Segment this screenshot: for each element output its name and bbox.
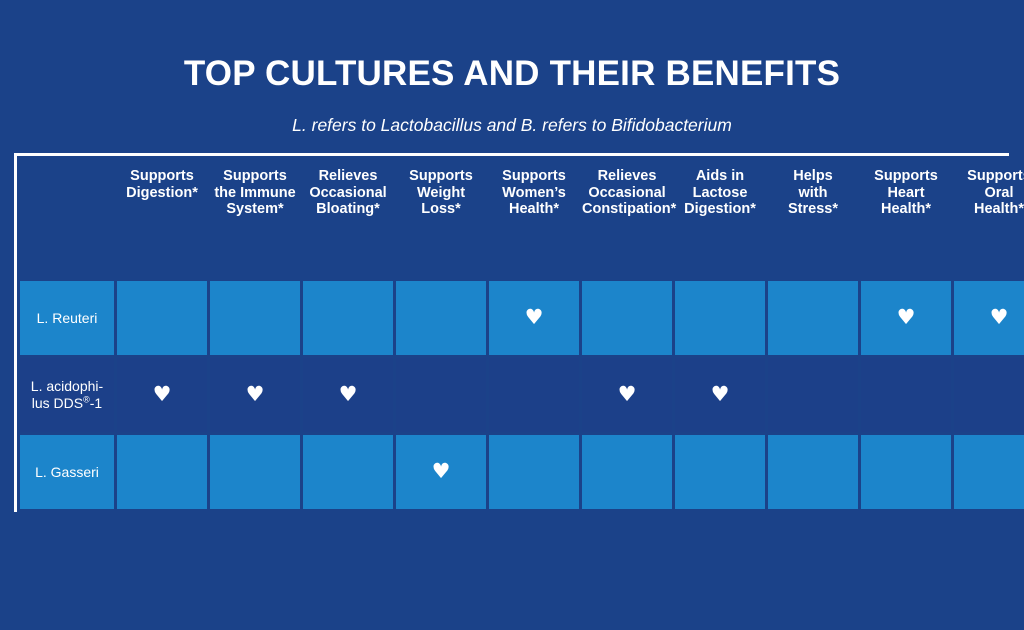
column-header-line: Aids in	[675, 168, 765, 185]
column-header-line: the Immune	[210, 185, 300, 202]
column-header-line: Supports	[861, 168, 951, 185]
column-header-line: Digestion*	[675, 201, 765, 218]
row-label-line: L. Reuteri	[20, 310, 114, 327]
column-header-line: Supports	[489, 168, 579, 185]
column-header-line: Supports	[954, 168, 1024, 185]
heart-icon: ♥	[990, 307, 1009, 328]
column-header-line: Occasional	[582, 185, 672, 202]
benefit-cell: ♥	[117, 281, 207, 355]
column-header-4: SupportsWeightLoss*	[396, 159, 486, 278]
benefit-cell: ♥	[396, 435, 486, 509]
benefit-cell: ♥	[582, 435, 672, 509]
page-subtitle: L. refers to Lactobacillus and B. refers…	[0, 112, 1024, 138]
column-header-5: SupportsWomen’sHealth*	[489, 159, 579, 278]
heart-icon: ♥	[153, 384, 172, 405]
column-header-line: with	[768, 185, 858, 202]
benefit-cell: ♥	[768, 435, 858, 509]
column-header-3: RelievesOccasionalBloating*	[303, 159, 393, 278]
benefit-cell: ♥	[954, 358, 1024, 432]
header-row: SupportsDigestion*Supportsthe ImmuneSyst…	[20, 159, 1024, 278]
column-header-line: Health*	[954, 201, 1024, 218]
column-header-line: Bloating*	[303, 201, 393, 218]
column-header-1: SupportsDigestion*	[117, 159, 207, 278]
registered-trademark-mark: ®	[83, 394, 90, 404]
benefit-cell: ♥	[489, 435, 579, 509]
column-header-line: Health*	[861, 201, 951, 218]
benefit-cell: ♥	[210, 358, 300, 432]
poster-root: TOP CULTURES AND THEIR BENEFITS L. refer…	[0, 0, 1024, 630]
column-header-line: Stress*	[768, 201, 858, 218]
benefit-cell: ♥	[489, 358, 579, 432]
table-row: L. acidophi-lus DDS®-1♥♥♥♥♥♥♥♥♥♥	[20, 358, 1024, 432]
page-title: TOP CULTURES AND THEIR BENEFITS	[0, 52, 1024, 96]
benefit-cell: ♥	[768, 281, 858, 355]
heart-icon: ♥	[897, 307, 916, 328]
row-label-3: L. Gasseri	[20, 435, 114, 509]
column-header-6: RelievesOccasionalConstipation*	[582, 159, 672, 278]
benefit-cell: ♥	[675, 358, 765, 432]
table-body: L. Reuteri♥♥♥♥♥♥♥♥♥♥L. acidophi-lus DDS®…	[20, 281, 1024, 509]
benefit-cell: ♥	[675, 435, 765, 509]
column-header-line: Constipation*	[582, 201, 672, 218]
benefit-cell: ♥	[489, 281, 579, 355]
benefit-cell: ♥	[675, 281, 765, 355]
column-header-line: Occasional	[303, 185, 393, 202]
table-row: L. Gasseri♥♥♥♥♥♥♥♥♥♥	[20, 435, 1024, 509]
benefit-cell: ♥	[303, 358, 393, 432]
column-header-9: SupportsHeartHealth*	[861, 159, 951, 278]
benefit-cell: ♥	[861, 358, 951, 432]
benefit-cell: ♥	[210, 435, 300, 509]
row-label-line: lus DDS®-1	[20, 395, 114, 412]
column-header-line: Supports	[396, 168, 486, 185]
column-header-2: Supportsthe ImmuneSystem*	[210, 159, 300, 278]
column-header-line: Heart	[861, 185, 951, 202]
row-label-line: L. Gasseri	[20, 464, 114, 481]
heart-icon: ♥	[618, 384, 637, 405]
benefits-table-wrapper: SupportsDigestion*Supportsthe ImmuneSyst…	[14, 153, 1009, 512]
row-label-1: L. Reuteri	[20, 281, 114, 355]
heart-icon: ♥	[711, 384, 730, 405]
benefits-table: SupportsDigestion*Supportsthe ImmuneSyst…	[17, 156, 1024, 512]
table-row: L. Reuteri♥♥♥♥♥♥♥♥♥♥	[20, 281, 1024, 355]
column-header-7: Aids inLactoseDigestion*	[675, 159, 765, 278]
header-corner-cell	[20, 159, 114, 278]
benefit-cell: ♥	[861, 435, 951, 509]
table-head: SupportsDigestion*Supportsthe ImmuneSyst…	[20, 159, 1024, 278]
benefit-cell: ♥	[582, 358, 672, 432]
column-header-line: Women’s	[489, 185, 579, 202]
benefit-cell: ♥	[396, 358, 486, 432]
column-header-10: SupportsOralHealth*	[954, 159, 1024, 278]
column-header-8: HelpswithStress*	[768, 159, 858, 278]
row-label-2: L. acidophi-lus DDS®-1	[20, 358, 114, 432]
benefit-cell: ♥	[954, 435, 1024, 509]
heart-icon: ♥	[525, 307, 544, 328]
column-header-line: Relieves	[582, 168, 672, 185]
column-header-line: Relieves	[303, 168, 393, 185]
benefit-cell: ♥	[303, 435, 393, 509]
heart-icon: ♥	[432, 461, 451, 482]
benefit-cell: ♥	[303, 281, 393, 355]
column-header-line: Loss*	[396, 201, 486, 218]
heart-icon: ♥	[339, 384, 358, 405]
benefit-cell: ♥	[117, 358, 207, 432]
benefit-cell: ♥	[582, 281, 672, 355]
column-header-line: Supports	[210, 168, 300, 185]
benefit-cell: ♥	[396, 281, 486, 355]
column-header-line: Health*	[489, 201, 579, 218]
column-header-line: Oral	[954, 185, 1024, 202]
row-label-line: L. acidophi-	[20, 378, 114, 395]
benefit-cell: ♥	[954, 281, 1024, 355]
column-header-line: Supports	[117, 168, 207, 185]
column-header-line: Helps	[768, 168, 858, 185]
column-header-line: Lactose	[675, 185, 765, 202]
benefit-cell: ♥	[210, 281, 300, 355]
benefit-cell: ♥	[117, 435, 207, 509]
column-header-line: Digestion*	[117, 185, 207, 202]
benefit-cell: ♥	[768, 358, 858, 432]
column-header-line: System*	[210, 201, 300, 218]
column-header-line: Weight	[396, 185, 486, 202]
heart-icon: ♥	[246, 384, 265, 405]
benefit-cell: ♥	[861, 281, 951, 355]
